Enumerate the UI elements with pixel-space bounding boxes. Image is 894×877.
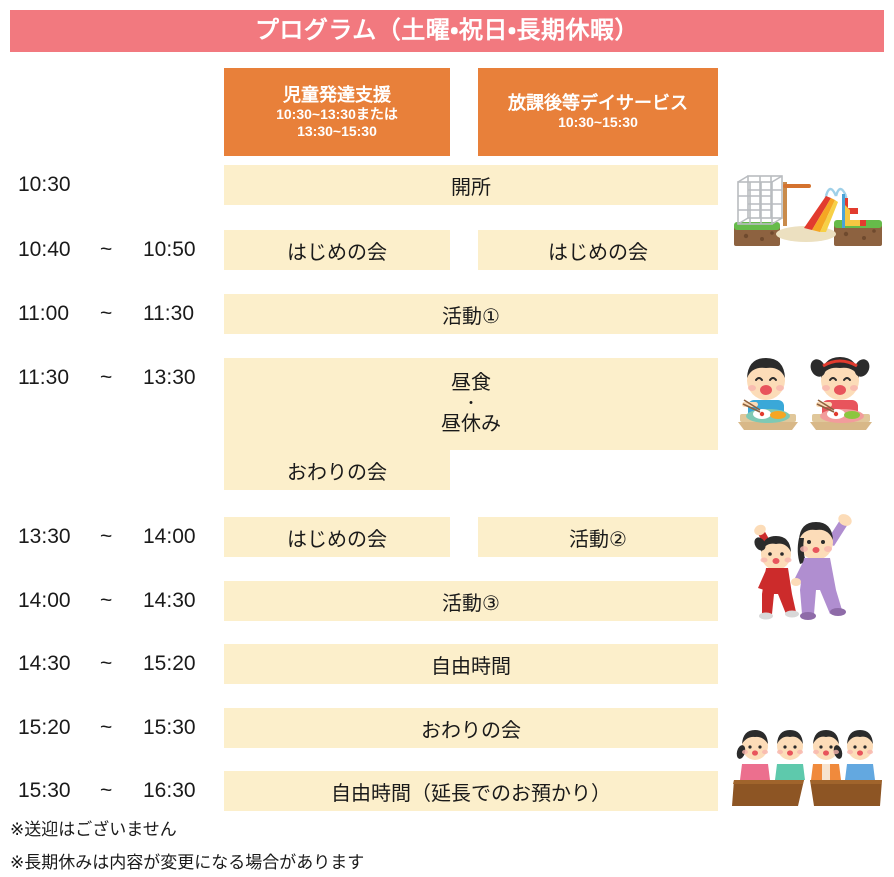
program-title-bar: プログラム（土曜・祝日・長期休暇） — [10, 10, 884, 52]
column-header-name: 放課後等デイサービス — [508, 93, 688, 114]
time-end: 15:20 — [143, 652, 196, 676]
time-label-row: 13:30 ~ 14:00 — [0, 517, 224, 557]
schedule-cell-full: おわりの会 — [224, 708, 718, 748]
time-start: 14:00 — [18, 589, 71, 613]
time-separator: ~ — [100, 238, 112, 262]
time-start: 14:30 — [18, 652, 71, 676]
schedule-cell-full: 活動① — [224, 294, 718, 334]
time-end: 14:00 — [143, 525, 196, 549]
time-end: 10:50 — [143, 238, 196, 262]
time-start: 10:30 — [18, 173, 71, 197]
schedule-cell-right: はじめの会 — [478, 230, 718, 270]
time-start: 15:30 — [18, 779, 71, 803]
time-label-row: 10:40 ~ 10:50 — [0, 230, 224, 270]
time-separator: ~ — [100, 589, 112, 613]
schedule-cell-full: 自由時間 — [224, 644, 718, 684]
time-end: 13:30 — [143, 366, 196, 390]
schedule-cell-full: 自由時間（延長でのお預かり） — [224, 771, 718, 811]
time-end: 14:30 — [143, 589, 196, 613]
column-header-hours-line1: 10:30~15:30 — [558, 114, 638, 131]
children-eating-lunch-illustration — [730, 344, 886, 440]
schedule-cell-lunch-sub: おわりの会 — [224, 450, 450, 490]
stretching-exercise-illustration — [730, 508, 880, 620]
time-start: 15:20 — [18, 716, 71, 740]
column-header-hours-line2: 13:30~15:30 — [297, 123, 377, 140]
time-separator: ~ — [100, 716, 112, 740]
time-separator: ~ — [100, 302, 112, 326]
time-end: 15:30 — [143, 716, 196, 740]
footer-note-no-transport: ※送迎はございません — [10, 815, 177, 840]
time-separator: ~ — [100, 366, 112, 390]
time-end: 16:30 — [143, 779, 196, 803]
time-label-row: 15:20 ~ 15:30 — [0, 708, 224, 748]
column-header-child-development-support: 児童発達支援 10:30~13:30または 13:30~15:30 — [224, 68, 450, 156]
lunch-label-line1: 昼食 — [451, 371, 491, 396]
time-start: 10:40 — [18, 238, 71, 262]
column-header-after-school-day-service: 放課後等デイサービス 10:30~15:30 — [478, 68, 718, 156]
lunch-label-dot: ・ — [464, 396, 478, 411]
schedule-cell-lunch: 昼食 ・ 昼休み — [224, 358, 718, 450]
playground-illustration — [730, 166, 886, 252]
time-label-row: 14:00 ~ 14:30 — [0, 581, 224, 621]
time-start: 13:30 — [18, 525, 71, 549]
footer-note-schedule-change: ※長期休みは内容が変更になる場合があります — [10, 848, 364, 873]
schedule-cell-left: はじめの会 — [224, 517, 450, 557]
lunch-label-line2: 昼休み — [441, 412, 501, 437]
time-separator: ~ — [100, 652, 112, 676]
column-header-hours-line1: 10:30~13:30または — [276, 106, 398, 123]
schedule-cell-right: 活動② — [478, 517, 718, 557]
time-start: 11:30 — [18, 366, 69, 390]
time-start: 11:00 — [18, 302, 69, 326]
time-separator: ~ — [100, 525, 112, 549]
column-header-name: 児童発達支援 — [283, 85, 391, 106]
page-title: プログラム（土曜・祝日・長期休暇） — [255, 19, 639, 43]
time-end: 11:30 — [143, 302, 194, 326]
time-label-row: 11:00 ~ 11:30 — [0, 294, 224, 334]
time-label-row: 15:30 ~ 16:30 — [0, 771, 224, 811]
schedule-cell-full: 開所 — [224, 165, 718, 205]
time-label-row: 11:30 ~ 13:30 — [0, 358, 224, 398]
schedule-cell-full: 活動③ — [224, 581, 718, 621]
time-label-row: 14:30 ~ 15:20 — [0, 644, 224, 684]
time-label-row: 10:30 — [0, 165, 224, 205]
schedule-cell-left: はじめの会 — [224, 230, 450, 270]
children-at-desks-illustration — [730, 722, 886, 814]
time-separator: ~ — [100, 779, 112, 803]
